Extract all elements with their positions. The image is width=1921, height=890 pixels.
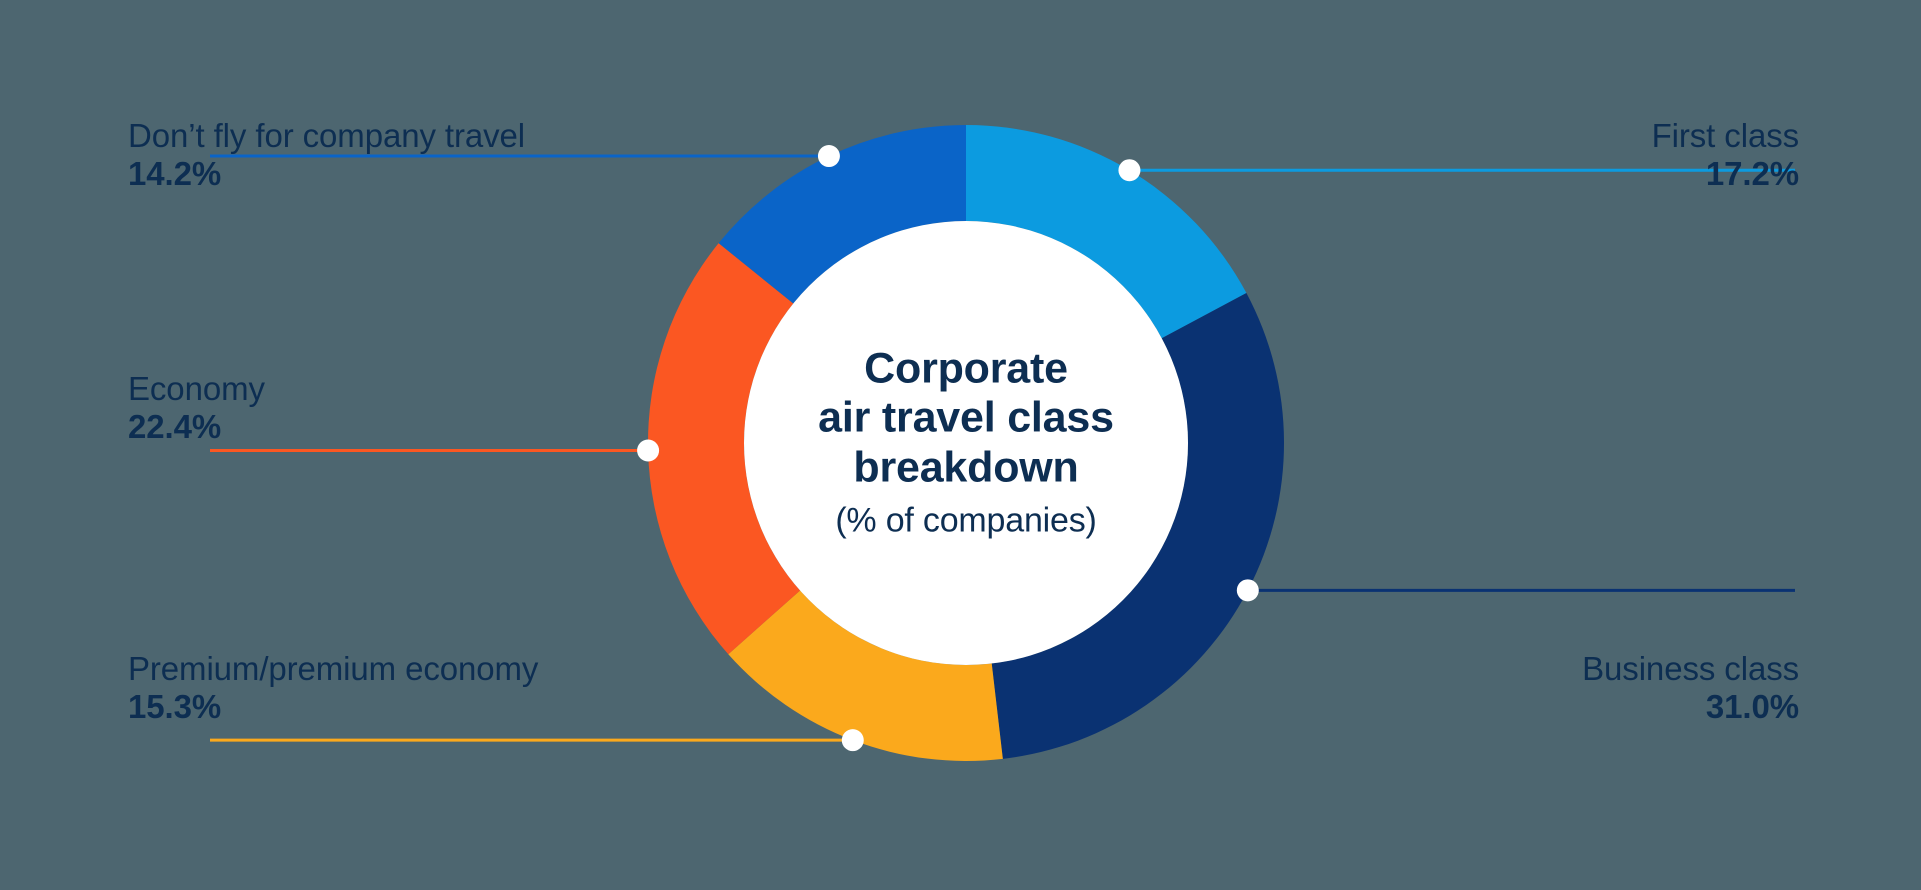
callout-label-premium-economy: Premium/premium economy 15.3%	[128, 650, 538, 727]
callout-label-first-class: First class 17.2%	[1652, 117, 1799, 194]
donut-center-hub	[744, 221, 1188, 665]
callout-name-dont-fly: Don’t fly for company travel	[128, 117, 525, 155]
callout-name-economy: Economy	[128, 370, 265, 408]
callout-name-first-class: First class	[1652, 117, 1799, 155]
leader-dot-marker	[1237, 579, 1259, 601]
callout-label-business-class: Business class 31.0%	[1582, 650, 1799, 727]
chart-canvas: Corporate air travel class breakdown (% …	[0, 0, 1921, 890]
callout-value-business-class: 31.0%	[1582, 688, 1799, 726]
callout-value-first-class: 17.2%	[1652, 155, 1799, 193]
callout-name-premium-economy: Premium/premium economy	[128, 650, 538, 688]
callout-value-economy: 22.4%	[128, 408, 265, 446]
callout-value-dont-fly: 14.2%	[128, 155, 525, 193]
callout-value-premium-economy: 15.3%	[128, 688, 538, 726]
callout-label-economy: Economy 22.4%	[128, 370, 265, 447]
leader-dot-marker	[637, 439, 659, 461]
callout-label-dont-fly: Don’t fly for company travel 14.2%	[128, 117, 525, 194]
leader-dot-marker	[842, 729, 864, 751]
leader-dot-marker	[1118, 159, 1140, 181]
leader-dot-marker	[818, 145, 840, 167]
callout-name-business-class: Business class	[1582, 650, 1799, 688]
